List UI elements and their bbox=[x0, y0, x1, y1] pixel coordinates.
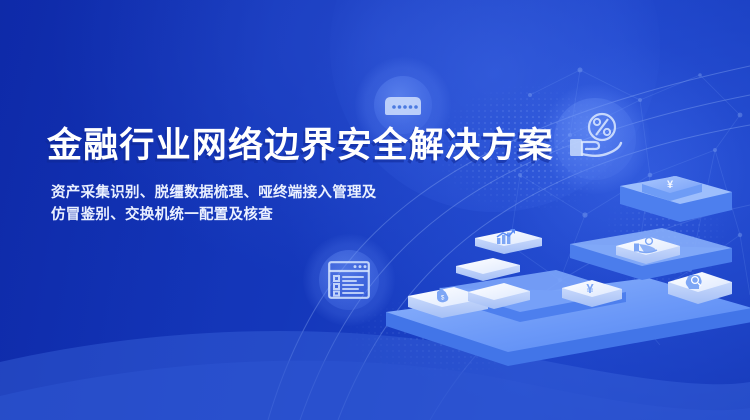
document-list-icon bbox=[328, 261, 370, 299]
page-subtitle: 资产采集识别、脱缰数据梳理、哑终端接入管理及 仿冒鉴别、交换机统一配置及核查 bbox=[51, 182, 554, 226]
yen-icon: ¥ bbox=[667, 179, 674, 191]
banner-root: $ ¥ bbox=[0, 0, 750, 420]
subtitle-line-2: 仿冒鉴别、交换机统一配置及核查 bbox=[51, 204, 554, 226]
yen-icon: ¥ bbox=[586, 281, 594, 296]
router-icon bbox=[381, 89, 425, 121]
page-title: 金融行业网络边界安全解决方案 bbox=[47, 124, 554, 168]
subtitle-line-1: 资产采集识别、脱缰数据梳理、哑终端接入管理及 bbox=[51, 182, 554, 204]
hand-percent-icon bbox=[564, 112, 626, 166]
headline-block: 金融行业网络边界安全解决方案 资产采集识别、脱缰数据梳理、哑终端接入管理及 仿冒… bbox=[47, 124, 554, 226]
tile-growth-chart bbox=[475, 229, 542, 254]
